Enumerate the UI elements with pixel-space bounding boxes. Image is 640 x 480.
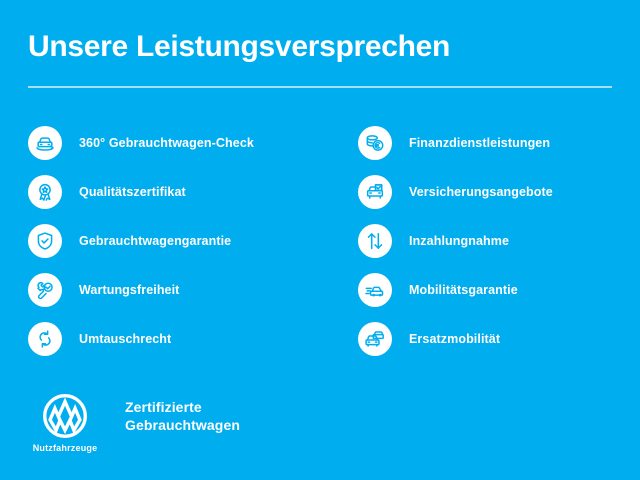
- list-item[interactable]: Finanzdienstleistungen: [358, 118, 628, 167]
- footer-headline-line1: Zertifizierte: [125, 398, 240, 416]
- slide-root: Unsere Leistungsversprechen 360° Gebrauc…: [0, 0, 640, 480]
- list-item-label: Wartungsfreiheit: [79, 283, 179, 297]
- vw-logo: [41, 392, 89, 440]
- car-motion-icon: [358, 273, 392, 307]
- list-item[interactable]: Umtauschrecht: [28, 314, 328, 363]
- coins-euro-icon: [358, 126, 392, 160]
- list-item-label: Gebrauchtwagengarantie: [79, 234, 231, 248]
- quality-award-icon: [28, 175, 62, 209]
- list-item-label: Ersatzmobilität: [409, 332, 500, 346]
- arrows-up-down-icon: [358, 224, 392, 258]
- list-item-label: 360° Gebrauchtwagen-Check: [79, 136, 254, 150]
- wrench-check-icon: [28, 273, 62, 307]
- list-item-label: Inzahlungnahme: [409, 234, 509, 248]
- list-item[interactable]: Ersatzmobilität: [358, 314, 628, 363]
- footer-headline: Zertifizierte Gebrauchtwagen: [125, 398, 240, 434]
- list-item-label: Qualitätszertifikat: [79, 185, 186, 199]
- list-item[interactable]: Inzahlungnahme: [358, 216, 628, 265]
- list-item-label: Mobilitätsgarantie: [409, 283, 518, 297]
- benefits-column-left: 360° Gebrauchtwagen-Check Qualitätszerti…: [28, 118, 328, 363]
- car-360-check-icon: [28, 126, 62, 160]
- list-item[interactable]: Mobilitätsgarantie: [358, 265, 628, 314]
- shield-check-icon: [28, 224, 62, 258]
- footer: Nutzfahrzeuge Zertifizierte Gebrauchtwag…: [28, 392, 240, 453]
- car-document-check-icon: [358, 175, 392, 209]
- brand-logo-block: Nutzfahrzeuge: [28, 392, 102, 453]
- list-item[interactable]: Versicherungsangebote: [358, 167, 628, 216]
- exchange-arrows-icon: [28, 322, 62, 356]
- two-cars-icon: [358, 322, 392, 356]
- benefits-column-right: Finanzdienstleistungen Versicherungsange…: [358, 118, 628, 363]
- list-item-label: Versicherungsangebote: [409, 185, 553, 199]
- list-item-label: Umtauschrecht: [79, 332, 171, 346]
- page-title: Unsere Leistungsversprechen: [28, 30, 450, 64]
- brand-logo-subtitle: Nutzfahrzeuge: [33, 443, 98, 453]
- list-item[interactable]: Gebrauchtwagengarantie: [28, 216, 328, 265]
- list-item[interactable]: 360° Gebrauchtwagen-Check: [28, 118, 328, 167]
- title-divider: [28, 86, 612, 88]
- list-item[interactable]: Qualitätszertifikat: [28, 167, 328, 216]
- list-item-label: Finanzdienstleistungen: [409, 136, 550, 150]
- list-item[interactable]: Wartungsfreiheit: [28, 265, 328, 314]
- footer-headline-line2: Gebrauchtwagen: [125, 416, 240, 434]
